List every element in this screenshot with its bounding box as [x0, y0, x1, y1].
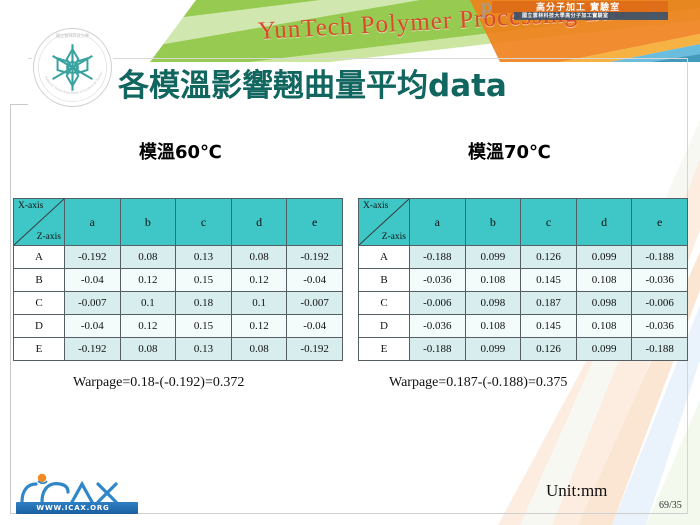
cell: 0.099 [576, 246, 632, 269]
cell: -0.04 [287, 269, 343, 292]
cell: 0.12 [231, 315, 287, 338]
warpage-result-mold-temp-60: Warpage=0.18-(-0.192)=0.372 [73, 375, 244, 391]
cell: 0.108 [576, 269, 632, 292]
row-label: C [14, 292, 65, 315]
row-label: A [359, 246, 410, 269]
warpage-result-mold-temp-70: Warpage=0.187-(-0.188)=0.375 [389, 375, 567, 391]
cell: 0.098 [576, 292, 632, 315]
frame-line-left-stub [10, 104, 28, 105]
cell: -0.007 [287, 292, 343, 315]
cell: 0.12 [120, 269, 176, 292]
z-axis-label: Z-axis [382, 232, 406, 243]
watermark-text-secondary: 國立雲林科技大學高分子加工實驗室 [522, 12, 608, 19]
frame-line-left [10, 104, 11, 514]
cell: 0.08 [120, 246, 176, 269]
cell: -0.04 [287, 315, 343, 338]
column-header-d: d [576, 199, 632, 246]
section-heading-mold-temp-60: 模溫60℃ [139, 138, 222, 164]
cell: 0.099 [576, 338, 632, 361]
column-header-e: e [287, 199, 343, 246]
mold-temp-60-table: X-axis Z-axis a b c d e A -0.192 0.08 0.… [13, 198, 343, 361]
cell: 0.108 [465, 315, 521, 338]
row-label: B [14, 269, 65, 292]
z-axis-label: Z-axis [37, 232, 61, 243]
table-row: A -0.188 0.099 0.126 0.099 -0.188 [359, 246, 688, 269]
icax-logo[interactable]: WWW.ICAX.ORG [12, 472, 140, 518]
cell: -0.192 [65, 338, 121, 361]
table-row: D -0.04 0.12 0.15 0.12 -0.04 [14, 315, 343, 338]
row-label: E [14, 338, 65, 361]
cell: -0.192 [287, 338, 343, 361]
watermark-p-left: P [480, 0, 492, 24]
cell: -0.188 [410, 338, 466, 361]
cell: 0.099 [465, 338, 521, 361]
row-label: B [359, 269, 410, 292]
cell: -0.192 [65, 246, 121, 269]
slide-canvas: YunTech Polymer Processing Lab 高分子加工 實驗室… [0, 0, 700, 525]
svg-text:國立雲林科技大學: 國立雲林科技大學 [56, 32, 89, 38]
watermark-overlay: 高分子加工 實驗室 國立雲林科技大學高分子加工實驗室 [492, 1, 668, 23]
row-label: C [359, 292, 410, 315]
cell: 0.099 [465, 246, 521, 269]
table-row: E -0.192 0.08 0.13 0.08 -0.192 [14, 338, 343, 361]
cell: -0.006 [410, 292, 466, 315]
section-heading-mold-temp-70: 模溫70℃ [468, 138, 551, 164]
cell: 0.145 [521, 269, 577, 292]
cell: -0.188 [410, 246, 466, 269]
cell: -0.188 [632, 338, 688, 361]
cell: 0.1 [120, 292, 176, 315]
cell: 0.18 [176, 292, 232, 315]
page-number: 69/35 [659, 500, 682, 511]
x-axis-label: X-axis [18, 201, 43, 212]
cell: -0.188 [632, 246, 688, 269]
cell: -0.036 [632, 269, 688, 292]
cell: 0.187 [521, 292, 577, 315]
cell: 0.145 [521, 315, 577, 338]
row-label: A [14, 246, 65, 269]
university-seal-logo: 國立雲林科技大學 National Yunlin University of S… [31, 26, 114, 109]
cell: 0.08 [231, 338, 287, 361]
cell: 0.13 [176, 246, 232, 269]
cell: 0.08 [231, 246, 287, 269]
cell: 0.08 [120, 338, 176, 361]
column-header-b: b [120, 199, 176, 246]
cell: 0.12 [120, 315, 176, 338]
mold-temp-70-table: X-axis Z-axis a b c d e A -0.188 0.099 0… [358, 198, 688, 361]
cell: 0.108 [465, 269, 521, 292]
table-row: D -0.036 0.108 0.145 0.108 -0.036 [359, 315, 688, 338]
column-header-b: b [465, 199, 521, 246]
cell: -0.192 [287, 246, 343, 269]
unit-label: Unit:mm [546, 481, 607, 501]
frame-line-top [28, 58, 688, 59]
table-container-mold-temp-70: X-axis Z-axis a b c d e A -0.188 0.099 0… [358, 198, 688, 361]
table-container-mold-temp-60: X-axis Z-axis a b c d e A -0.192 0.08 0.… [13, 198, 343, 361]
table-header-row: X-axis Z-axis a b c d e [14, 199, 343, 246]
cell: -0.04 [65, 315, 121, 338]
cell: -0.007 [65, 292, 121, 315]
table-header-row: X-axis Z-axis a b c d e [359, 199, 688, 246]
cell: 0.126 [521, 338, 577, 361]
cell: 0.1 [231, 292, 287, 315]
cell: 0.126 [521, 246, 577, 269]
table-row: B -0.036 0.108 0.145 0.108 -0.036 [359, 269, 688, 292]
table-row: E -0.188 0.099 0.126 0.099 -0.188 [359, 338, 688, 361]
column-header-d: d [231, 199, 287, 246]
table-row: A -0.192 0.08 0.13 0.08 -0.192 [14, 246, 343, 269]
cell: -0.036 [410, 315, 466, 338]
cell: 0.108 [576, 315, 632, 338]
page-title: 各模溫影響翹曲量平均data [118, 60, 507, 105]
column-header-c: c [521, 199, 577, 246]
axis-corner-cell: X-axis Z-axis [359, 199, 410, 246]
cell: -0.036 [410, 269, 466, 292]
icax-url-text: WWW.ICAX.ORG [12, 502, 134, 514]
cell: 0.12 [231, 269, 287, 292]
cell: -0.006 [632, 292, 688, 315]
table-row: B -0.04 0.12 0.15 0.12 -0.04 [14, 269, 343, 292]
column-header-c: c [176, 199, 232, 246]
row-label: D [359, 315, 410, 338]
table-row: C -0.007 0.1 0.18 0.1 -0.007 [14, 292, 343, 315]
row-label: D [14, 315, 65, 338]
axis-corner-cell: X-axis Z-axis [14, 199, 65, 246]
cell: -0.04 [65, 269, 121, 292]
column-header-e: e [632, 199, 688, 246]
cell: -0.036 [632, 315, 688, 338]
cell: 0.098 [465, 292, 521, 315]
column-header-a: a [65, 199, 121, 246]
column-header-a: a [410, 199, 466, 246]
cell: 0.15 [176, 269, 232, 292]
cell: 0.15 [176, 315, 232, 338]
table-row: C -0.006 0.098 0.187 0.098 -0.006 [359, 292, 688, 315]
x-axis-label: X-axis [363, 201, 388, 212]
cell: 0.13 [176, 338, 232, 361]
row-label: E [359, 338, 410, 361]
